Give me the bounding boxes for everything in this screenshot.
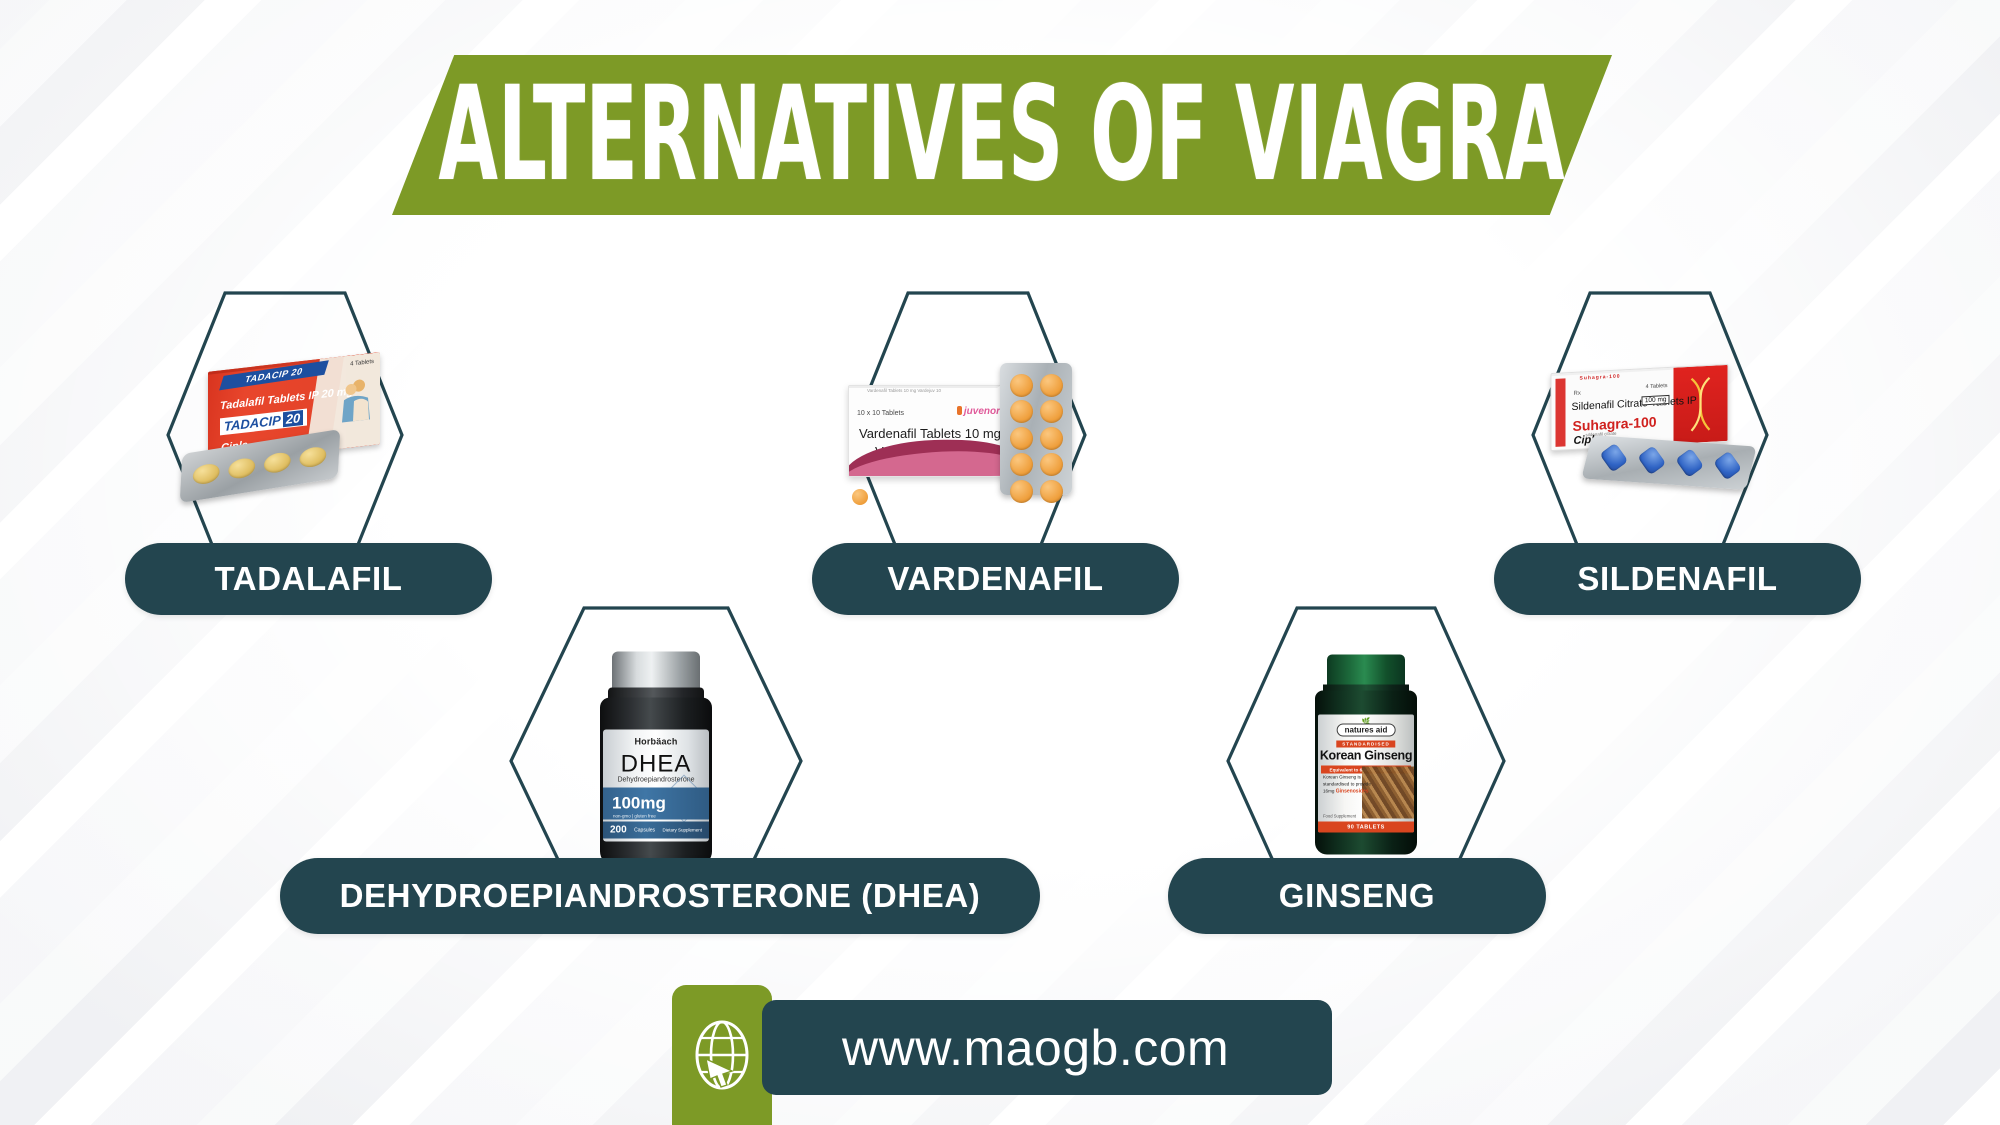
tadacip-brand: TADACIP20 bbox=[220, 408, 307, 435]
tadacip-brand-name: TADACIP bbox=[224, 413, 281, 434]
dhea-strength-note: non-gmo | gluten free bbox=[613, 814, 656, 819]
label-dhea[interactable]: DEHYDROEPIANDROSTERONE (DHEA) bbox=[280, 858, 1040, 934]
label-text-dhea: DEHYDROEPIANDROSTERONE (DHEA) bbox=[340, 877, 981, 915]
dhea-name: DHEA bbox=[603, 751, 709, 779]
dhea-count: 200 bbox=[610, 825, 627, 836]
vardejuv-pack-size: 10 x 10 Tablets bbox=[857, 410, 904, 417]
title-banner: ALTERNATIVES OF VIAGRA bbox=[392, 55, 1612, 215]
globe-icon bbox=[672, 985, 772, 1125]
ginseng-brand: natures aid bbox=[1337, 724, 1396, 737]
juvenor-logo: juvenor bbox=[957, 406, 1000, 417]
suhagra-top-text: Suhagra-100 bbox=[1580, 373, 1621, 381]
carton-artwork bbox=[342, 375, 372, 424]
ginseng-badge: STANDARDISED bbox=[1336, 741, 1395, 748]
product-image-dhea-bottle: Horbäach DHEA Dehydroepiandrosterone 100… bbox=[586, 652, 726, 867]
label-sildenafil[interactable]: SILDENAFIL bbox=[1494, 543, 1861, 615]
website-bar[interactable]: www.maogb.com bbox=[762, 1000, 1332, 1095]
dhea-count-band: 200 Capsules Dietary Supplement bbox=[603, 822, 709, 839]
tadacip-top-band: TADACIP 20 bbox=[219, 360, 329, 390]
bottle-cap bbox=[612, 652, 700, 692]
label-vardenafil[interactable]: VARDENAFIL bbox=[812, 543, 1179, 615]
bottle-cap bbox=[1327, 655, 1405, 689]
label-tadalafil[interactable]: TADALAFIL bbox=[125, 543, 492, 615]
label-text-sildenafil: SILDENAFIL bbox=[1577, 560, 1777, 598]
item-card-tadalafil: TADACIP 20 Tadalafil Tablets IP 20 mg TA… bbox=[165, 290, 405, 580]
dhea-strength: 100mg bbox=[612, 794, 666, 814]
product-image-ginseng-bottle: 🌿 natures aid STANDARDISED Korean Ginsen… bbox=[1301, 655, 1431, 860]
suhagra-rx: Rx bbox=[1574, 391, 1581, 397]
label-text-ginseng: GINSENG bbox=[1279, 877, 1435, 915]
label-ginseng[interactable]: GINSENG bbox=[1168, 858, 1546, 934]
dhea-strength-band: 100mg non-gmo | gluten free bbox=[603, 788, 709, 820]
ginseng-body-highlight: Ginsenosides bbox=[1336, 788, 1369, 794]
ginseng-body-text: Korean Ginseng is standardised to provid… bbox=[1323, 775, 1375, 796]
dhea-count-unit: Capsules bbox=[634, 827, 655, 833]
footer: www.maogb.com bbox=[0, 985, 2000, 1125]
page-title: ALTERNATIVES OF VIAGRA bbox=[439, 70, 1565, 201]
suhagra-pack-size: 4 Tablets bbox=[1646, 383, 1668, 390]
vardejuv-top-text: Vardenafil Tablets 10 mg Vardejuv 10 bbox=[867, 388, 941, 393]
suhagra-blister bbox=[1581, 435, 1756, 490]
label-text-tadalafil: TADALAFIL bbox=[214, 560, 402, 598]
tadacip-brand-strength: 20 bbox=[283, 410, 303, 427]
vardejuv-line1: Vardenafil Tablets 10 mg bbox=[859, 426, 1001, 441]
loose-tablet bbox=[852, 489, 868, 505]
website-url: www.maogb.com bbox=[842, 1019, 1229, 1077]
dhea-sub: Dehydroepiandrosterone bbox=[603, 777, 709, 784]
item-card-vardenafil: Vardenafil Tablets 10 mg Vardejuv 10 10 … bbox=[848, 290, 1088, 580]
bottle-label: 🌿 natures aid STANDARDISED Korean Ginsen… bbox=[1318, 715, 1414, 833]
dhea-brand: Horbäach bbox=[603, 737, 709, 747]
ginseng-count: 90 TABLETS bbox=[1318, 822, 1414, 833]
suhagra-strength: 100 mg bbox=[1642, 395, 1670, 405]
ginseng-supplement-note: Food Supplement bbox=[1323, 814, 1356, 819]
product-image-tadacip: TADACIP 20 Tadalafil Tablets IP 20 mg TA… bbox=[180, 356, 390, 506]
vardejuv-blister bbox=[1000, 363, 1072, 495]
item-card-sildenafil: Suhagra-100 Rx 4 Tablets Sildenafil Citr… bbox=[1530, 290, 1770, 580]
ginseng-name: Korean Ginseng bbox=[1318, 749, 1414, 763]
product-image-vardejuv: Vardenafil Tablets 10 mg Vardejuv 10 10 … bbox=[848, 363, 1088, 503]
product-image-suhagra: Suhagra-100 Rx 4 Tablets Sildenafil Citr… bbox=[1543, 361, 1758, 506]
bottle-label: Horbäach DHEA Dehydroepiandrosterone 100… bbox=[603, 730, 709, 842]
dhea-supplement-note: Dietary Supplement bbox=[662, 828, 702, 833]
label-text-vardenafil: VARDENAFIL bbox=[887, 560, 1103, 598]
